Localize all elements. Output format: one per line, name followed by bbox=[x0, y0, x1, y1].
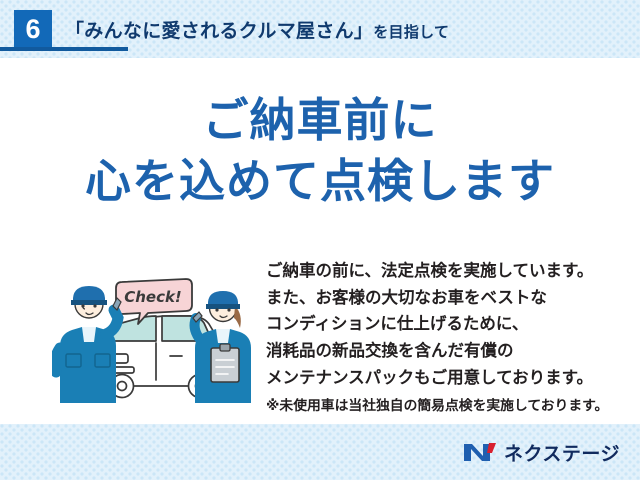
copy-line-3: コンディションに仕上げるために、 bbox=[266, 311, 632, 338]
header-underline-rule bbox=[0, 47, 128, 51]
female-mechanic-figure bbox=[193, 291, 251, 403]
copy-line-4: 消耗品の新品交換を含んだ有償の bbox=[266, 338, 632, 365]
page-footer: ネクステージ bbox=[0, 424, 640, 480]
speech-bubble-label: Check! bbox=[124, 288, 182, 306]
mechanics-illustration: Check! bbox=[52, 268, 257, 403]
header-title-tail: を目指して bbox=[373, 24, 449, 41]
clipboard-icon bbox=[211, 344, 239, 382]
copy-footnote: ※未使用車は当社独自の簡易点検を実施しております。 bbox=[266, 395, 632, 417]
header-title-quoted: 「みんなに愛されるクルマ屋さん」 bbox=[65, 21, 373, 42]
copy-line-1: ご納車の前に、法定点検を実施しています。 bbox=[266, 258, 632, 285]
copy-line-2: また、お客様の大切なお車をベストな bbox=[266, 285, 632, 312]
brand-name-label: ネクステージ bbox=[504, 439, 620, 466]
copy-line-5: メンテナンスパックもご用意しております。 bbox=[266, 365, 632, 392]
section-number-badge: 6 bbox=[14, 10, 52, 48]
male-mechanic-figure bbox=[55, 286, 121, 403]
page-headline: ご納車前に 心を込めて点検します bbox=[0, 90, 640, 211]
header-title: 「みんなに愛されるクルマ屋さん」を目指して bbox=[65, 16, 449, 43]
brand-lockup: ネクステージ bbox=[463, 439, 620, 466]
content-panel: ご納車前に 心を込めて点検します Check! bbox=[0, 58, 640, 424]
nextage-n-logo-icon bbox=[463, 440, 497, 464]
headline-line-1: ご納車前に bbox=[0, 90, 640, 151]
body-copy: ご納車の前に、法定点検を実施しています。 また、お客様の大切なお車をベストな コ… bbox=[266, 258, 632, 417]
headline-line-2: 心を込めて点検します bbox=[0, 151, 640, 212]
